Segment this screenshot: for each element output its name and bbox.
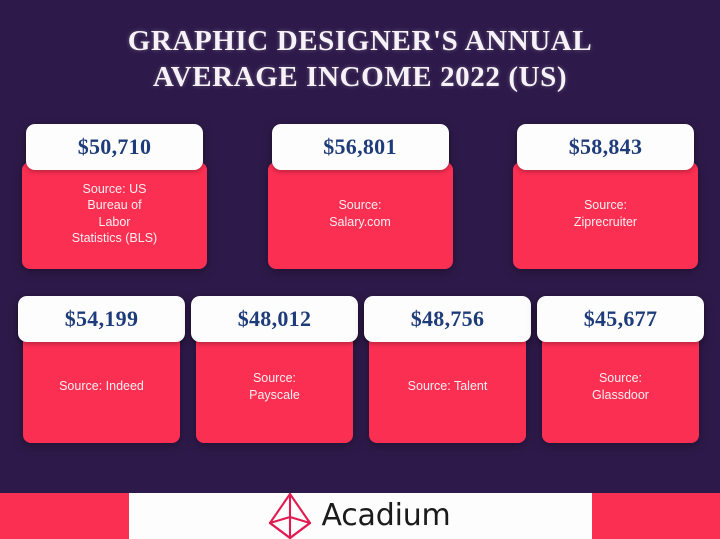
income-card-glassdoor: $45,677 Source: Glassdoor	[537, 296, 704, 443]
page-title-line-2: AVERAGE INCOME 2022 (US)	[0, 60, 720, 96]
income-amount: $54,199	[65, 306, 139, 332]
income-amount: $50,710	[78, 134, 152, 160]
income-card-row-top: $50,710 Source: US Bureau of Labor Stati…	[22, 124, 698, 269]
page-title: GRAPHIC DESIGNER'S ANNUAL AVERAGE INCOME…	[0, 24, 720, 96]
income-card-salary-com: $56,801 Source: Salary.com	[268, 124, 453, 269]
income-amount: $45,677	[584, 306, 658, 332]
brand-panel: Acadium	[129, 493, 592, 539]
income-amount: $48,012	[238, 306, 312, 332]
income-card-header: $54,199	[18, 296, 185, 342]
income-card-header: $56,801	[272, 124, 449, 170]
income-card-header: $48,756	[364, 296, 531, 342]
income-card-body: Source: Salary.com	[268, 162, 453, 269]
income-source-label: Source: Ziprecruiter	[574, 197, 637, 230]
infographic-canvas: GRAPHIC DESIGNER'S ANNUAL AVERAGE INCOME…	[0, 0, 720, 539]
income-card-bls: $50,710 Source: US Bureau of Labor Stati…	[22, 124, 207, 269]
acadium-diamond-logo-icon	[269, 493, 311, 539]
income-amount: $48,756	[411, 306, 485, 332]
income-source-label: Source: Talent	[408, 378, 488, 395]
income-card-header: $58,843	[517, 124, 694, 170]
income-card-header: $50,710	[26, 124, 203, 170]
income-card-header: $48,012	[191, 296, 358, 342]
income-card-body: Source: Talent	[369, 334, 526, 443]
income-source-label: Source: US Bureau of Labor Statistics (B…	[72, 181, 157, 247]
income-card-body: Source: US Bureau of Labor Statistics (B…	[22, 162, 207, 269]
income-amount: $56,801	[323, 134, 397, 160]
footer-bar: Acadium	[0, 493, 720, 539]
income-card-row-bottom: $54,199 Source: Indeed $48,012 Source: P…	[18, 296, 704, 443]
page-title-line-1: GRAPHIC DESIGNER'S ANNUAL	[0, 24, 720, 60]
income-card-body: Source: Indeed	[23, 334, 180, 443]
income-card-header: $45,677	[537, 296, 704, 342]
income-amount: $58,843	[569, 134, 643, 160]
income-source-label: Source: Indeed	[59, 378, 144, 395]
income-card-body: Source: Glassdoor	[542, 334, 699, 443]
income-source-label: Source: Glassdoor	[592, 370, 649, 403]
acadium-wordmark: Acadium	[321, 501, 450, 531]
income-card-indeed: $54,199 Source: Indeed	[18, 296, 185, 443]
income-card-ziprecruiter: $58,843 Source: Ziprecruiter	[513, 124, 698, 269]
income-card-body: Source: Payscale	[196, 334, 353, 443]
income-card-talent: $48,756 Source: Talent	[364, 296, 531, 443]
income-source-label: Source: Payscale	[249, 370, 300, 403]
income-source-label: Source: Salary.com	[329, 197, 391, 230]
income-card-body: Source: Ziprecruiter	[513, 162, 698, 269]
income-card-payscale: $48,012 Source: Payscale	[191, 296, 358, 443]
